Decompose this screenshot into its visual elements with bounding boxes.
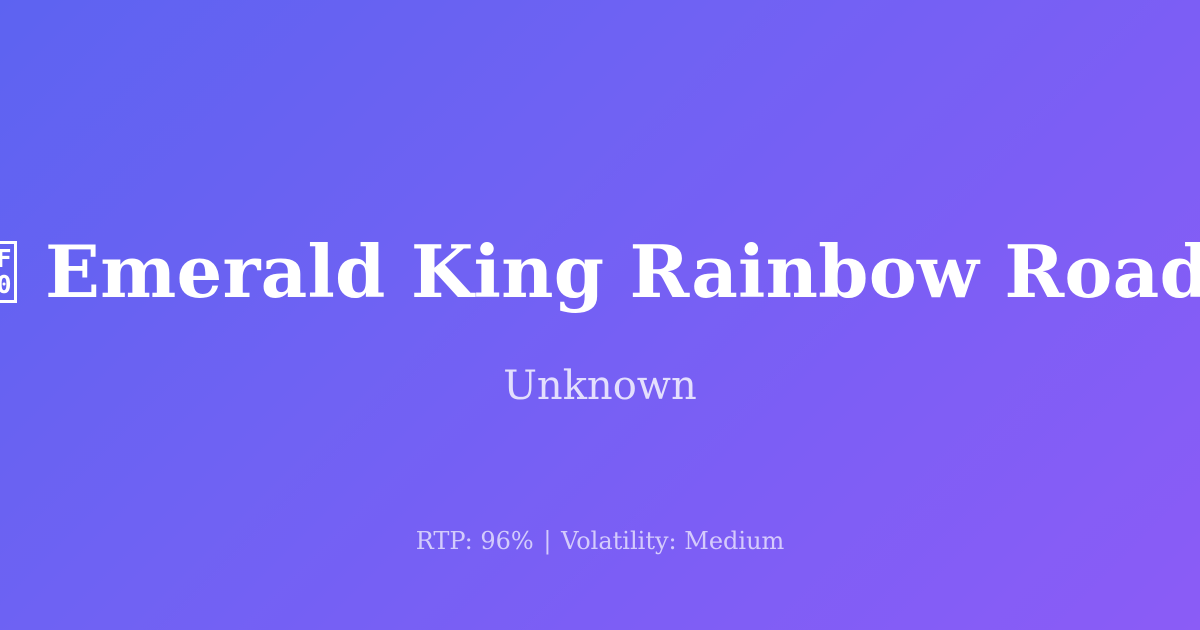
tofu-codepoint-bottom: B0	[0, 272, 11, 298]
game-open-graph-card: 1F B0 Emerald King Rainbow Road Unknown …	[0, 0, 1200, 630]
page-subtitle: Unknown	[0, 362, 1200, 410]
meta-separator: |	[541, 527, 553, 555]
volatility-label: Volatility:	[561, 527, 677, 555]
volatility-value: Medium	[684, 527, 784, 555]
game-meta-line: RTP: 96% | Volatility: Medium	[0, 526, 1200, 557]
rtp-value: 96%	[480, 527, 533, 555]
tofu-codepoint-top: 1F	[0, 246, 11, 272]
rtp-label: RTP:	[416, 527, 473, 555]
missing-glyph-tofu-icon: 1F B0	[0, 241, 17, 303]
title-row: 1F B0 Emerald King Rainbow Road	[0, 194, 1200, 350]
page-title: Emerald King Rainbow Road	[45, 233, 1200, 311]
